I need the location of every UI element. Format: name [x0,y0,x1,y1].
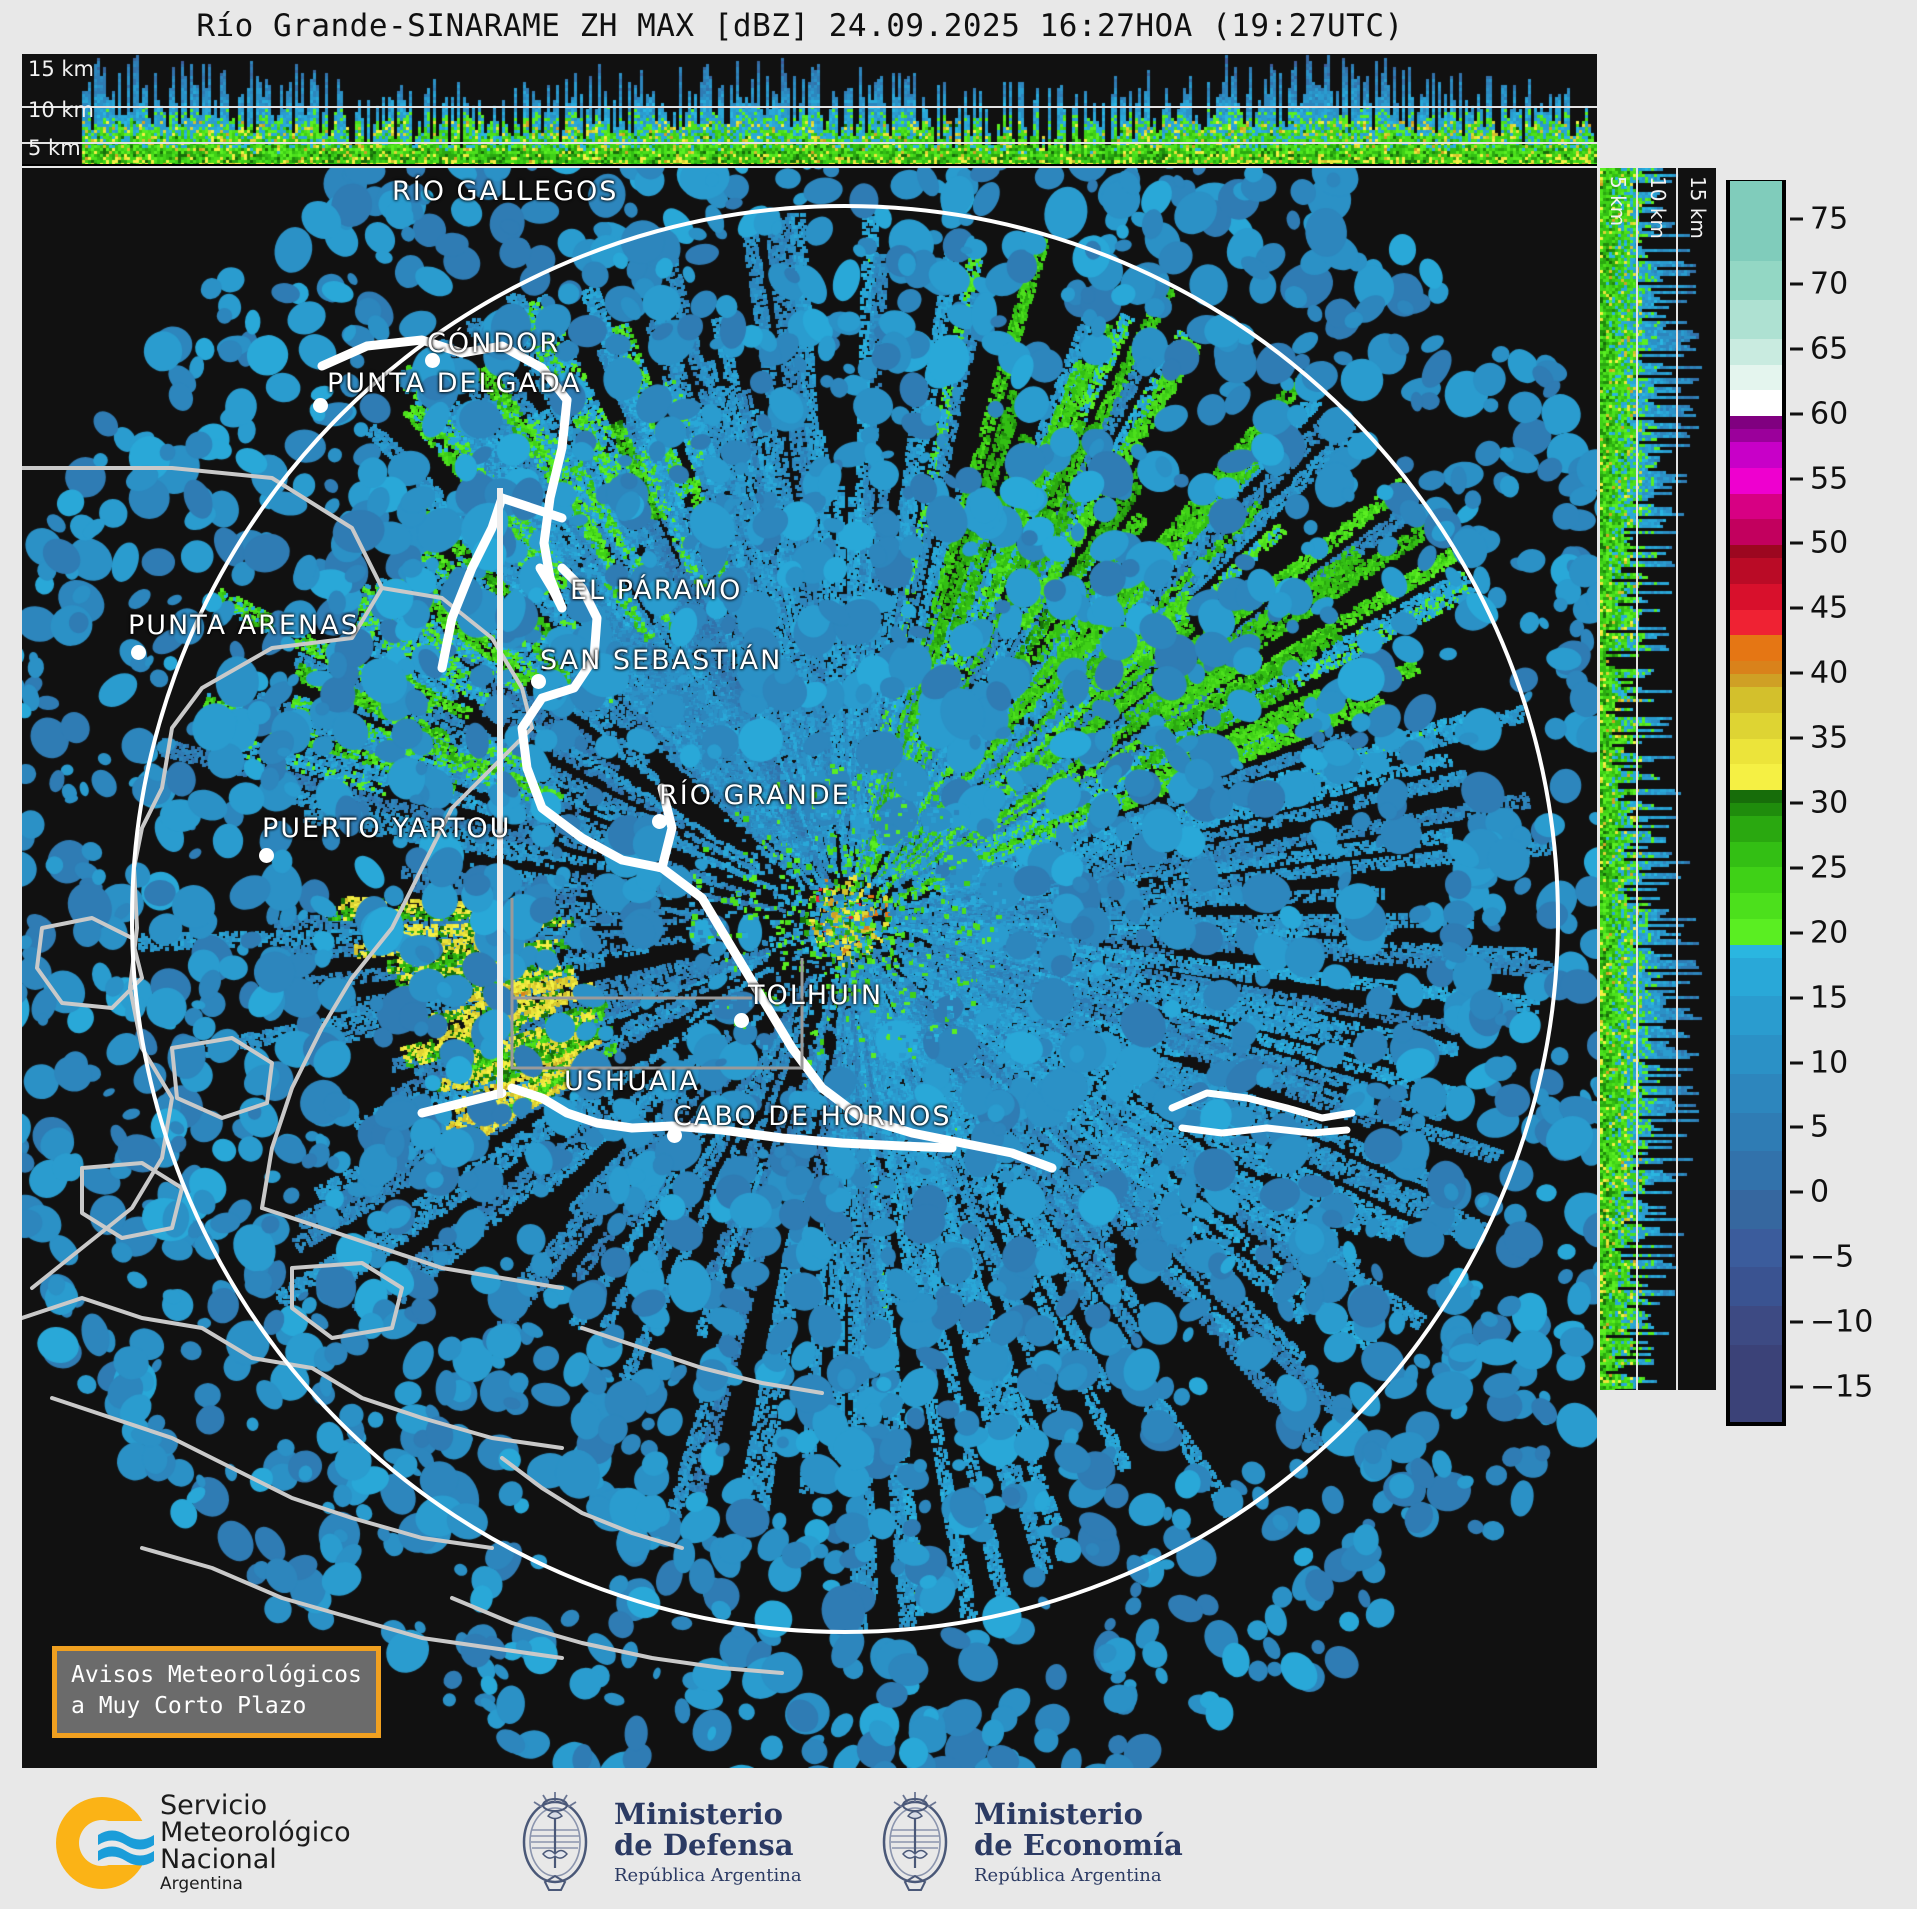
height-label-5km: 5 km [28,138,81,159]
colorbar-segment [1730,761,1782,790]
height-label-10km: 10 km [28,100,94,121]
colorbar-tick: 45 [1790,591,1848,626]
colorbar [1726,180,1786,1426]
colorbar-segment [1730,890,1782,919]
colorbar-segment [1730,864,1782,893]
smn-wordmark: Servicio Meteorológico Nacional Argentin… [160,1792,351,1893]
ministry-economia-line-2: de Economía [974,1830,1183,1861]
colorbar-tick: 25 [1790,850,1848,885]
colorbar-segment [1730,516,1782,545]
colorbar-tick: −15 [1790,1370,1873,1405]
colorbar-tick-label: 60 [1810,396,1848,431]
colorbar-tick: 15 [1790,980,1848,1015]
colorbar-segment [1730,955,1782,997]
city-label: PUNTA DELGADA [327,368,582,399]
city-marker-dot [667,1128,682,1143]
height-gridline-5km [22,142,1597,144]
nowcast-warning-box[interactable]: Avisos Meteorológicos a Muy Corto Plazo [52,1646,381,1738]
city-marker-dot [259,848,274,863]
smn-line-3: Nacional [160,1846,351,1873]
colorbar-tick-mark [1790,931,1803,934]
radar-product-page: Río Grande-SINARAME ZH MAX [dBZ] 24.09.2… [0,0,1917,1909]
right-cross-section-panel: 5 km 10 km 15 km [1600,168,1716,1390]
colorbar-segment [1730,1071,1782,1113]
colorbar-tick-label: 65 [1810,331,1848,366]
colorbar-tick-mark [1790,802,1803,805]
colorbar-tick-mark [1790,217,1803,220]
ministry-defensa-line-3: República Argentina [614,1866,802,1885]
city-label: USHUAIA [564,1066,700,1097]
smn-line-2: Meteorológico [160,1819,351,1846]
colorbar-tick-label: 10 [1810,1045,1848,1080]
colorbar-segment [1730,993,1782,1035]
top-cross-section-panel: 15 km 10 km 5 km [22,54,1597,166]
smn-line-4: Argentina [160,1876,351,1893]
colorbar-tick-label: 20 [1810,915,1848,950]
smn-wave-icon [96,1825,158,1867]
colorbar-tick: 20 [1790,915,1848,950]
smn-emblem-icon [56,1797,148,1889]
colorbar-tick-label: −15 [1810,1370,1873,1405]
colorbar-tick-mark [1790,737,1803,740]
colorbar-tick: 35 [1790,721,1848,756]
height-label-15km-vertical: 15 km [1686,176,1710,239]
colorbar-segment [1730,606,1782,635]
colorbar-segment [1730,361,1782,390]
city-label: SAN SEBASTIÁN [540,645,782,676]
city-label: CÓNDOR [427,328,560,359]
height-label-10km-vertical: 10 km [1646,176,1670,239]
ministry-defensa-wordmark: Ministerio de Defensa República Argentin… [614,1799,802,1885]
footer: Servicio Meteorológico Nacional Argentin… [0,1778,1917,1909]
colorbar-tick: 55 [1790,461,1848,496]
colorbar-segment [1730,1342,1782,1384]
city-label: EL PÁRAMO [570,575,742,606]
colorbar-tick-label: 0 [1810,1175,1829,1210]
colorbar-tick-label: 5 [1810,1110,1829,1145]
colorbar-segment [1730,181,1782,261]
colorbar-segment [1730,1187,1782,1229]
colorbar-tick-label: 15 [1810,980,1848,1015]
colorbar-tick: 30 [1790,786,1848,821]
city-marker-dot [313,398,328,413]
height-gridline-10km [22,106,1597,108]
colorbar-tick-label: 70 [1810,266,1848,301]
colorbar-segment [1730,336,1782,365]
colorbar-tick: 10 [1790,1045,1848,1080]
colorbar-segment [1730,1225,1782,1267]
colorbar-segment [1730,1032,1782,1074]
colorbar-tick-mark [1790,412,1803,415]
colorbar-segment [1730,1303,1782,1345]
colorbar-tick-label: 75 [1810,201,1848,236]
ministry-economia-line-3: República Argentina [974,1866,1183,1885]
colorbar-segment [1730,710,1782,739]
colorbar-tick-label: 55 [1810,461,1848,496]
ministry-economia-line-1: Ministerio [974,1799,1183,1830]
warning-line-2: a Muy Corto Plazo [71,1691,362,1722]
height-gridline-5km-vertical [1636,168,1638,1390]
colorbar-segment [1730,439,1782,468]
colorbar-segment [1730,684,1782,713]
colorbar-tick-mark [1790,1256,1803,1259]
smn-line-1: Servicio [160,1792,351,1819]
colorbar-tick-mark [1790,1191,1803,1194]
colorbar-tick: 60 [1790,396,1848,431]
city-label: CABO DE HORNOS [673,1101,952,1132]
city-label: RÍO GRANDE [659,780,851,811]
colorbar-segment [1730,632,1782,661]
colorbar-tick: 70 [1790,266,1848,301]
colorbar-tick-mark [1790,866,1803,869]
colorbar-tick-mark [1790,672,1803,675]
colorbar-tick-label: 25 [1810,850,1848,885]
colorbar-segment [1730,581,1782,610]
colorbar-tick: 75 [1790,201,1848,236]
city-label: PUNTA ARENAS [128,610,360,641]
argentina-coat-of-arms-icon [872,1790,958,1894]
colorbar-segment [1730,387,1782,416]
colorbar-tick: 5 [1790,1110,1829,1145]
ministry-defensa-logo: Ministerio de Defensa República Argentin… [512,1790,802,1894]
height-label-15km: 15 km [28,59,94,80]
colorbar-tick: 65 [1790,331,1848,366]
colorbar-tick-mark [1790,1061,1803,1064]
colorbar-segment [1730,1148,1782,1190]
height-label-5km-vertical: 5 km [1606,176,1630,226]
colorbar-tick-label: 50 [1810,526,1848,561]
warning-line-1: Avisos Meteorológicos [71,1660,362,1691]
colorbar-tick: 0 [1790,1175,1829,1210]
colorbar-tick-label: −10 [1810,1305,1873,1340]
colorbar-segment [1730,555,1782,584]
colorbar-tick-label: 45 [1810,591,1848,626]
city-label: TOLHUIN [748,980,883,1011]
city-label: RÍO GALLEGOS [392,176,618,207]
page-title: Río Grande-SINARAME ZH MAX [dBZ] 24.09.2… [0,8,1600,44]
colorbar-tick-mark [1790,542,1803,545]
city-marker-dot [425,353,440,368]
right-cross-section-canvas [1600,168,1716,1390]
colorbar-segment [1730,297,1782,339]
colorbar-segment [1730,1264,1782,1306]
city-label: PUERTO YARTOU [262,813,511,844]
colorbar-tick-mark [1790,1321,1803,1324]
colorbar-tick-label: 40 [1810,656,1848,691]
city-marker-dot [652,814,667,829]
city-marker-dot [531,674,546,689]
ppi-map-panel[interactable]: RÍO GALLEGOSCÓNDORPUNTA DELGADAEL PÁRAMO… [22,168,1597,1768]
colorbar-tick-mark [1790,996,1803,999]
top-cross-section-canvas [22,54,1597,166]
colorbar-tick-mark [1790,347,1803,350]
colorbar-segment [1730,1109,1782,1151]
colorbar-segment [1730,1380,1782,1422]
height-gridline-10km-vertical [1676,168,1678,1390]
colorbar-tick-mark [1790,282,1803,285]
city-marker-dot [734,1013,749,1028]
colorbar-segment [1730,490,1782,519]
colorbar-tick: −10 [1790,1305,1873,1340]
colorbar-segment [1730,258,1782,300]
colorbar-segment [1730,916,1782,945]
colorbar-segment [1730,813,1782,842]
city-marker-dot [131,645,146,660]
colorbar-tick-mark [1790,1386,1803,1389]
colorbar-gradient [1730,184,1782,1422]
colorbar-tick: −5 [1790,1240,1854,1275]
ministry-defensa-line-2: de Defensa [614,1830,802,1861]
colorbar-tick-mark [1790,607,1803,610]
range-ring [130,204,1560,1634]
ministry-defensa-line-1: Ministerio [614,1799,802,1830]
colorbar-segment [1730,465,1782,494]
colorbar-tick-mark [1790,477,1803,480]
colorbar-tick-mark [1790,1126,1803,1129]
colorbar-tick-label: −5 [1810,1240,1854,1275]
colorbar-tick: 50 [1790,526,1848,561]
colorbar-tick: 40 [1790,656,1848,691]
colorbar-tick-label: 30 [1810,786,1848,821]
smn-logo: Servicio Meteorológico Nacional Argentin… [56,1792,351,1893]
colorbar-segment [1730,735,1782,764]
colorbar-tick-label: 35 [1810,721,1848,756]
colorbar-tick-layer: 757065605550454035302520151050−5−10−15 [1790,180,1910,1426]
ministry-economia-logo: Ministerio de Economía República Argenti… [872,1790,1183,1894]
colorbar-segment [1730,839,1782,868]
argentina-coat-of-arms-icon [512,1790,598,1894]
ministry-economia-wordmark: Ministerio de Economía República Argenti… [974,1799,1183,1885]
